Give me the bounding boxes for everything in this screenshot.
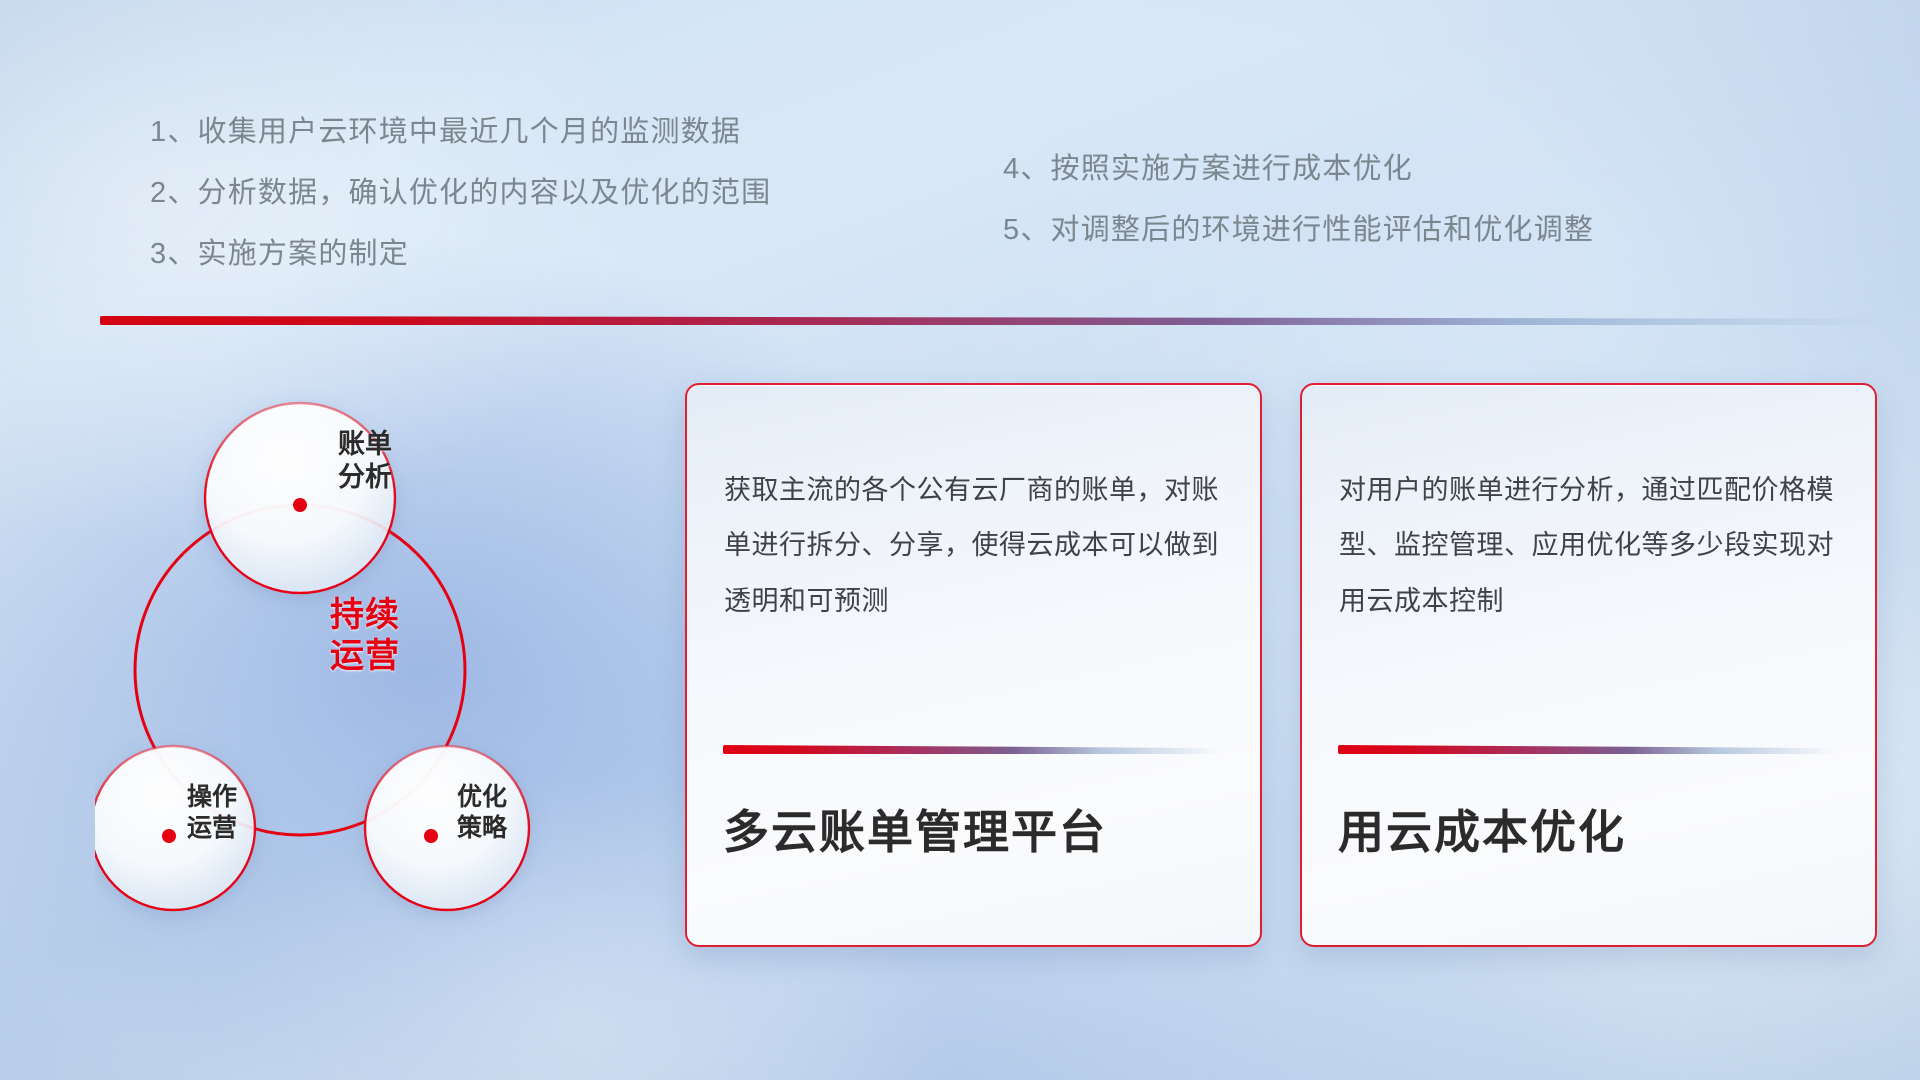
- venn-label-bill-analysis: 账单 分析: [300, 428, 430, 494]
- process-step-item: 3、实施方案的制定: [150, 240, 771, 269]
- process-step-item: 1、收集用户云环境中最近几个月的监测数据: [150, 118, 771, 147]
- venn-label-operations: 操作 运营: [147, 782, 277, 843]
- process-steps-right-column: 4、按照实施方案进行成本优化 5、对调整后的环境进行性能评估和优化调整: [1003, 155, 1594, 277]
- venn-label-line: 运营: [290, 636, 440, 677]
- venn-node-dot-top: [293, 498, 307, 512]
- venn-label-line: 操作: [147, 782, 277, 813]
- venn-label-line: 优化: [417, 782, 547, 813]
- feature-card-multicloud-billing[interactable]: 获取主流的各个公有云厂商的账单，对账单进行拆分、分享，使得云成本可以做到透明和可…: [685, 383, 1262, 947]
- venn-label-line: 账单: [300, 428, 430, 461]
- venn-label-line: 运营: [147, 813, 277, 844]
- feature-card-cloud-cost-optimization[interactable]: 对用户的账单进行分析，通过匹配价格模型、监控管理、应用优化等多少段实现对用云成本…: [1300, 383, 1877, 947]
- card-title: 多云账单管理平台: [723, 805, 1223, 860]
- card-body-text: 对用户的账单进行分析，通过匹配价格模型、监控管理、应用优化等多少段实现对用云成本…: [1339, 463, 1839, 629]
- venn-label-continuous-operation: 持续 运营: [290, 595, 440, 678]
- venn-diagram: 账单 分析 操作 运营 优化 策略 持续 运营: [95, 350, 565, 950]
- card-accent-rule: [723, 745, 1221, 754]
- process-step-item: 5、对调整后的环境进行性能评估和优化调整: [1003, 216, 1594, 245]
- venn-label-line: 持续: [290, 595, 440, 636]
- process-step-item: 4、按照实施方案进行成本优化: [1003, 155, 1594, 184]
- venn-label-optimization-strategy: 优化 策略: [417, 782, 547, 843]
- venn-label-line: 策略: [417, 813, 547, 844]
- venn-label-line: 分析: [300, 461, 430, 494]
- process-steps-left-column: 1、收集用户云环境中最近几个月的监测数据 2、分析数据，确认优化的内容以及优化的…: [150, 118, 771, 301]
- card-title: 用云成本优化: [1338, 805, 1838, 860]
- process-step-item: 2、分析数据，确认优化的内容以及优化的范围: [150, 179, 771, 208]
- card-accent-rule: [1338, 745, 1836, 754]
- process-steps: 1、收集用户云环境中最近几个月的监测数据 2、分析数据，确认优化的内容以及优化的…: [0, 0, 1920, 300]
- card-body-text: 获取主流的各个公有云厂商的账单，对账单进行拆分、分享，使得云成本可以做到透明和可…: [724, 463, 1224, 629]
